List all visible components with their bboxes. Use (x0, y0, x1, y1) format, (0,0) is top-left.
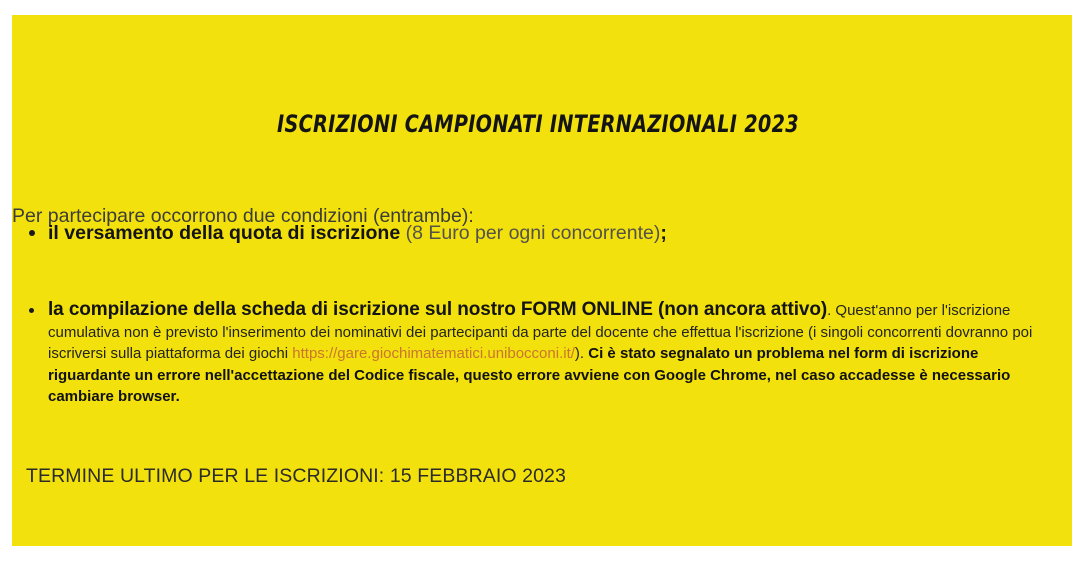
list-item: il versamento della quota di iscrizione … (12, 219, 1064, 247)
list-item: la compilazione della scheda di iscrizio… (12, 299, 1064, 408)
condition-payment-note: (8 Euro per ogni concorrente) (400, 222, 660, 244)
condition-form-body-second: ). (575, 345, 588, 362)
announcement-content: ISCRIZIONI CAMPIONATI INTERNAZIONALI 202… (12, 15, 1064, 546)
bullet-dot-icon (29, 230, 35, 236)
registration-platform-link[interactable]: https://gare.giochimatematici.unibocconi… (292, 345, 575, 362)
conditions-list: il versamento della quota di iscrizione … (12, 219, 1064, 408)
page-title: ISCRIZIONI CAMPIONATI INTERNAZIONALI 202… (117, 110, 959, 138)
page-root: ISCRIZIONI CAMPIONATI INTERNAZIONALI 202… (0, 0, 1088, 565)
bullet-dot-icon (29, 308, 34, 313)
deadline-text: TERMINE ULTIMO PER LE ISCRIZIONI: 15 FEB… (26, 463, 566, 490)
condition-payment-terminator: ; (660, 222, 667, 244)
condition-payment-label: il versamento della quota di iscrizione (48, 222, 400, 244)
condition-form-label: la compilazione della scheda di iscrizio… (48, 299, 827, 320)
announcement-panel: ISCRIZIONI CAMPIONATI INTERNAZIONALI 202… (12, 15, 1072, 546)
